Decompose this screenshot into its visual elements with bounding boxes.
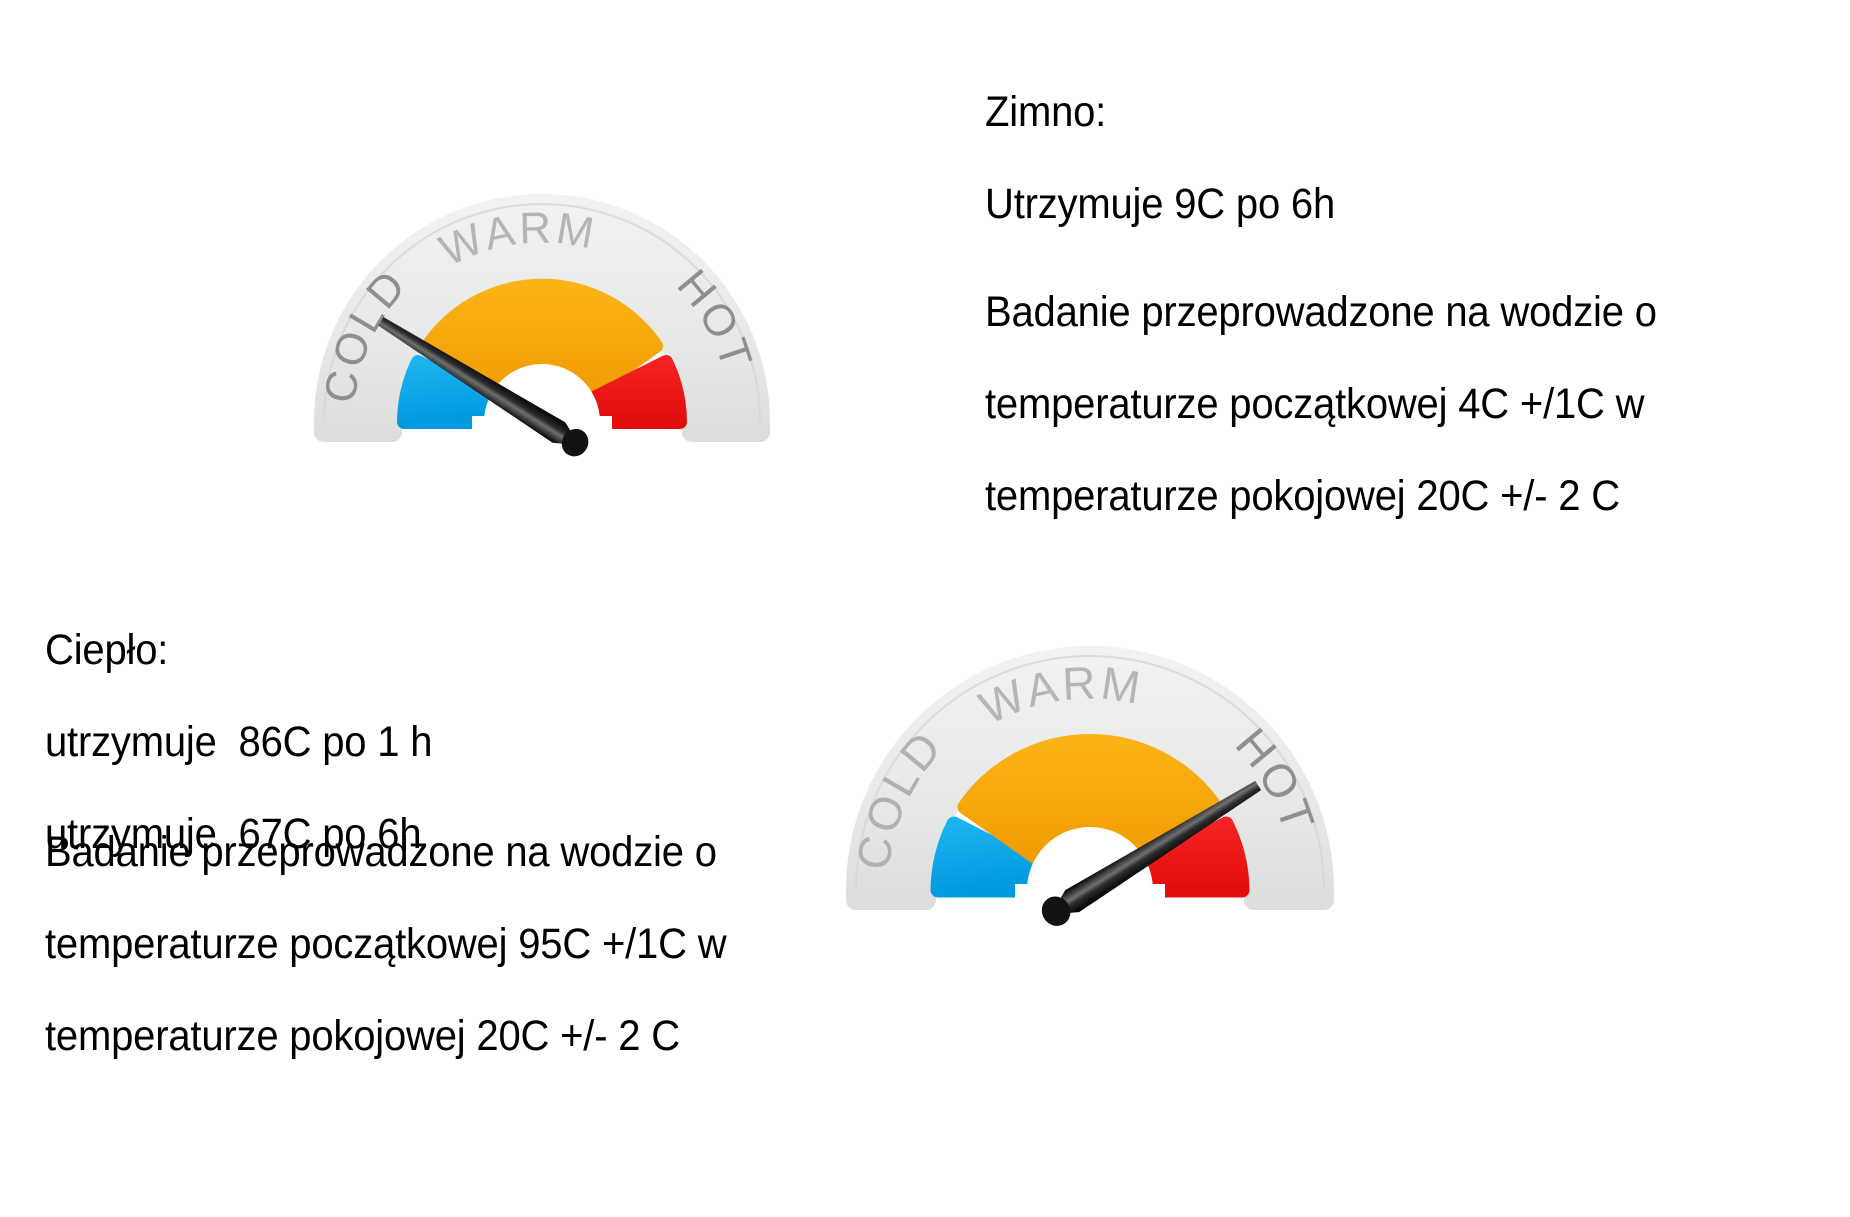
cold-result-line: Utrzymuje 9C po 6h bbox=[985, 176, 1335, 232]
hot-study-line-1: Badanie przeprowadzone na wodzie o bbox=[45, 824, 726, 880]
hot-heading: Ciepło: bbox=[45, 622, 432, 678]
cold-study-line-3: temperaturze pokojowej 20C +/- 2 C bbox=[985, 468, 1657, 524]
hot-study-line-2: temperaturze początkowej 95C +/1C w bbox=[45, 916, 726, 972]
page-canvas: COLD WARM HOT bbox=[0, 0, 1850, 1217]
temperature-gauge-cold: COLD WARM HOT bbox=[262, 120, 822, 500]
cold-study-line-2: temperaturze początkowej 4C +/1C w bbox=[985, 376, 1657, 432]
hot-study-line-3: temperaturze pokojowej 20C +/- 2 C bbox=[45, 1008, 726, 1064]
cold-heading: Zimno: bbox=[985, 84, 1335, 140]
cold-summary-text: Zimno: Utrzymuje 9C po 6h bbox=[985, 48, 1361, 268]
cold-study-text: Badanie przeprowadzone na wodzie o tempe… bbox=[985, 248, 1707, 560]
hot-result-line-1: utrzymuje 86C po 1 h bbox=[45, 714, 432, 770]
cold-study-line-1: Badanie przeprowadzone na wodzie o bbox=[985, 284, 1657, 340]
temperature-gauge-hot: COLD WARM HOT bbox=[790, 570, 1390, 970]
hot-study-text: Badanie przeprowadzone na wodzie o tempe… bbox=[45, 788, 778, 1100]
